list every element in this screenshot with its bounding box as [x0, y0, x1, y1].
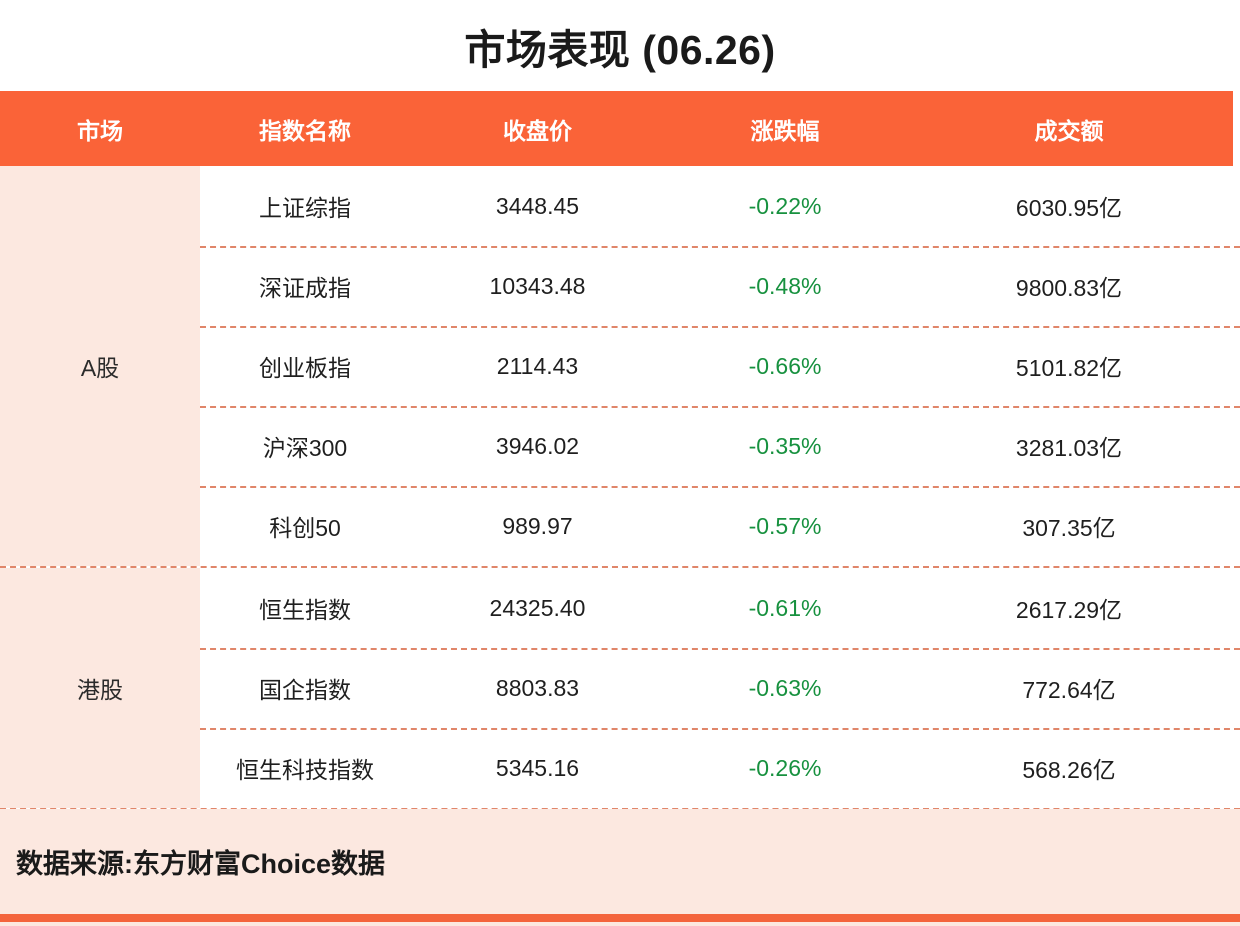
turnover-cell: 3281.03亿: [905, 429, 1233, 463]
market-group-label: 港股: [0, 568, 200, 808]
index-name-cell: 科创50: [200, 509, 410, 543]
close-price-cell: 5345.16: [410, 755, 665, 782]
index-name-cell: 国企指数: [200, 671, 410, 705]
market-performance-card: 市场表现 (06.26) 市场 指数名称 收盘价 涨跌幅 成交额 A股上证综指3…: [0, 0, 1240, 926]
change-pct-cell: -0.22%: [665, 193, 905, 220]
index-name-cell: 深证成指: [200, 269, 410, 303]
index-name-cell: 上证综指: [200, 189, 410, 223]
table-row[interactable]: 沪深3003946.02-0.35%3281.03亿: [200, 406, 1240, 486]
market-group-rows: 恒生指数24325.40-0.61%2617.29亿国企指数8803.83-0.…: [200, 568, 1240, 808]
table-row[interactable]: 创业板指2114.43-0.66%5101.82亿: [200, 326, 1240, 406]
turnover-cell: 568.26亿: [905, 751, 1233, 785]
turnover-cell: 307.35亿: [905, 509, 1233, 543]
bottom-accent-bar: [0, 914, 1240, 922]
index-name-cell: 创业板指: [200, 349, 410, 383]
table-row[interactable]: 国企指数8803.83-0.63%772.64亿: [200, 648, 1240, 728]
column-header-market: 市场: [0, 112, 200, 146]
table-row[interactable]: 科创50989.97-0.57%307.35亿: [200, 486, 1240, 566]
index-name-cell: 沪深300: [200, 429, 410, 463]
turnover-cell: 5101.82亿: [905, 349, 1233, 383]
column-header-turnover: 成交额: [905, 112, 1233, 146]
close-price-cell: 3946.02: [410, 433, 665, 460]
table-row[interactable]: 深证成指10343.48-0.48%9800.83亿: [200, 246, 1240, 326]
column-header-index-name: 指数名称: [200, 112, 410, 146]
data-source-label: 数据来源:东方财富Choice数据: [16, 842, 385, 881]
change-pct-cell: -0.63%: [665, 675, 905, 702]
change-pct-cell: -0.57%: [665, 513, 905, 540]
change-pct-cell: -0.66%: [665, 353, 905, 380]
column-header-close-price: 收盘价: [410, 112, 665, 146]
market-group: A股上证综指3448.45-0.22%6030.95亿深证成指10343.48-…: [0, 166, 1240, 566]
change-pct-cell: -0.61%: [665, 595, 905, 622]
close-price-cell: 989.97: [410, 513, 665, 540]
table-header-row: 市场 指数名称 收盘价 涨跌幅 成交额: [0, 91, 1233, 166]
close-price-cell: 10343.48: [410, 273, 665, 300]
change-pct-cell: -0.35%: [665, 433, 905, 460]
table-body: A股上证综指3448.45-0.22%6030.95亿深证成指10343.48-…: [0, 166, 1240, 807]
market-group: 港股恒生指数24325.40-0.61%2617.29亿国企指数8803.83-…: [0, 568, 1240, 808]
column-header-change-pct: 涨跌幅: [665, 112, 905, 146]
close-price-cell: 24325.40: [410, 595, 665, 622]
market-group-rows: 上证综指3448.45-0.22%6030.95亿深证成指10343.48-0.…: [200, 166, 1240, 566]
page-title: 市场表现 (06.26): [464, 16, 775, 76]
close-price-cell: 2114.43: [410, 353, 665, 380]
turnover-cell: 6030.95亿: [905, 189, 1233, 223]
change-pct-cell: -0.26%: [665, 755, 905, 782]
turnover-cell: 2617.29亿: [905, 591, 1233, 625]
close-price-cell: 8803.83: [410, 675, 665, 702]
bottom-strip: [0, 922, 1240, 926]
table-row[interactable]: 上证综指3448.45-0.22%6030.95亿: [200, 166, 1240, 246]
turnover-cell: 772.64亿: [905, 671, 1233, 705]
footer-bar: 数据来源:东方财富Choice数据: [0, 809, 1240, 914]
turnover-cell: 9800.83亿: [905, 269, 1233, 303]
table-row[interactable]: 恒生科技指数5345.16-0.26%568.26亿: [200, 728, 1240, 808]
index-name-cell: 恒生科技指数: [200, 751, 410, 785]
index-name-cell: 恒生指数: [200, 591, 410, 625]
table-row[interactable]: 恒生指数24325.40-0.61%2617.29亿: [200, 568, 1240, 648]
page-title-bar: 市场表现 (06.26): [0, 0, 1240, 91]
market-index-table: 市场 指数名称 收盘价 涨跌幅 成交额 A股上证综指3448.45-0.22%6…: [0, 91, 1240, 807]
close-price-cell: 3448.45: [410, 193, 665, 220]
change-pct-cell: -0.48%: [665, 273, 905, 300]
market-group-label: A股: [0, 166, 200, 566]
